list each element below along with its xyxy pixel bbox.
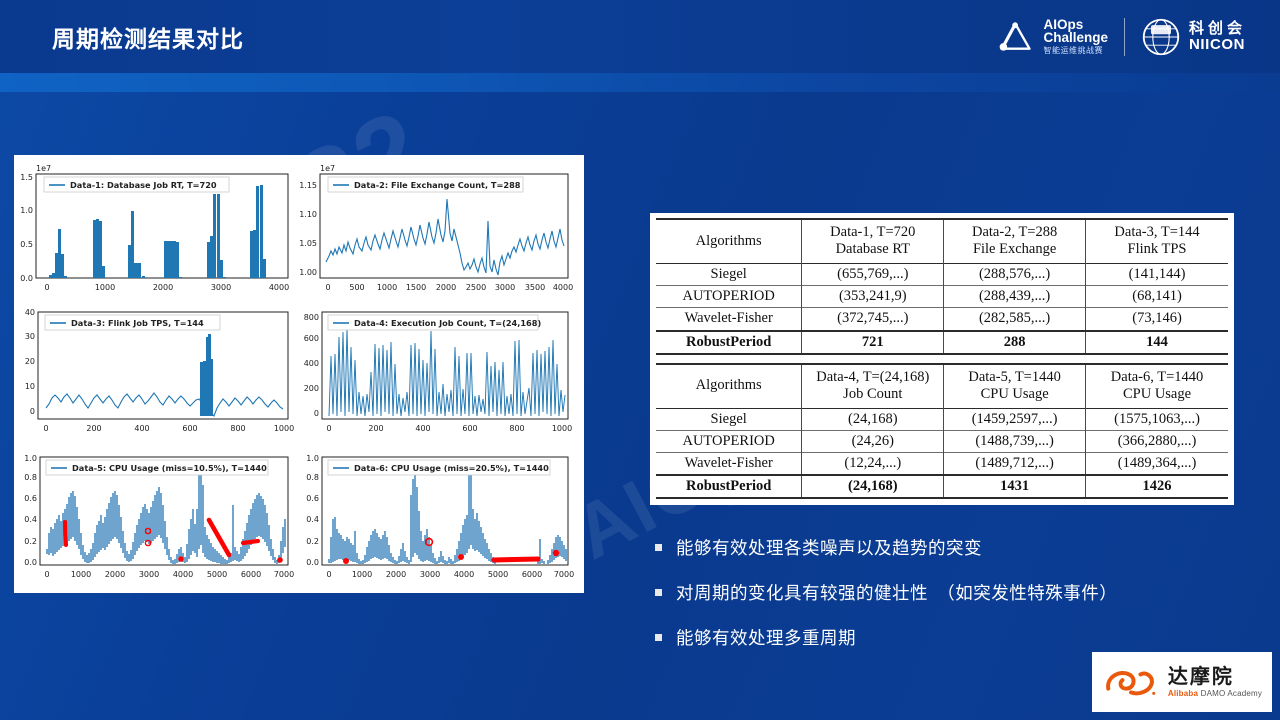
col-header-algorithms: Algorithms <box>656 364 802 409</box>
cell-value: (655,769,...) <box>802 264 944 286</box>
chart-3-legend-label: Data-3: Flink Job TPS, T=144 <box>71 318 204 328</box>
col-header-data-1-line1: Data-1, T=720 <box>806 224 939 241</box>
chart-1-legend: Data-1: Database Job RT, T=720 <box>44 177 229 192</box>
chart-data-1-svg: 1e7 0.00.5 1.01.5 010002000 30004000 <box>18 159 298 304</box>
cell-value: (141,144) <box>1086 264 1228 286</box>
cell-value: (1488,739,...) <box>944 430 1086 452</box>
svg-text:1.10: 1.10 <box>299 210 317 219</box>
chart-data-3-svg: 01020 3040 0200400 6008001000 Data-3: Fl… <box>18 304 298 449</box>
chart-data-4-svg: 0200400 600800 0200400 6008001000 Data-4… <box>298 304 578 449</box>
svg-text:0.0: 0.0 <box>24 558 37 567</box>
cell-algorithm: Siegel <box>656 408 802 430</box>
damo-logo-brand: Alibaba <box>1168 689 1198 698</box>
chart-6-legend: Data-6: CPU Usage (miss=20.5%), T=1440 <box>328 460 550 475</box>
svg-text:2500: 2500 <box>466 283 486 292</box>
bullet-text: 能够有效处理各类噪声以及趋势的突变 <box>676 535 982 560</box>
list-item: 能够有效处理各类噪声以及趋势的突变 <box>655 535 1235 560</box>
svg-text:600: 600 <box>304 334 319 343</box>
chart-5-legend-label: Data-5: CPU Usage (miss=10.5%), T=1440 <box>72 463 267 473</box>
svg-text:7000: 7000 <box>554 570 574 579</box>
chart-2-legend: Data-2: File Exchange Count, T=288 <box>328 177 523 192</box>
svg-text:20: 20 <box>25 357 35 366</box>
cell-value: (68,141) <box>1086 286 1228 308</box>
globe-icon <box>1141 17 1181 57</box>
table-bottom: Algorithms Data-4, T=(24,168) Job Count … <box>656 363 1228 500</box>
chart-6-legend-label: Data-6: CPU Usage (miss=20.5%), T=1440 <box>354 463 549 473</box>
svg-text:800: 800 <box>304 313 319 322</box>
bullet-text: 能够有效处理多重周期 <box>676 625 856 650</box>
chart-3-legend: Data-3: Flink Job TPS, T=144 <box>45 315 220 330</box>
chart-data-6-svg: 0.00.20.4 0.60.81.0 010002000 3000400050… <box>298 449 578 597</box>
cell-value: (282,585,...) <box>944 308 1086 331</box>
table-row: Wavelet-Fisher (372,745,...) (282,585,..… <box>656 308 1228 331</box>
svg-text:200: 200 <box>86 424 101 433</box>
svg-text:5000: 5000 <box>488 570 508 579</box>
chart-data-2: 1e7 1.001.05 1.101.15 05001000 150020002… <box>298 159 578 304</box>
svg-text:200: 200 <box>304 384 319 393</box>
cell-algorithm: RobustPeriod <box>656 331 802 354</box>
svg-text:0.4: 0.4 <box>306 515 319 524</box>
svg-text:1.0: 1.0 <box>24 454 37 463</box>
table-row: Algorithms Data-4, T=(24,168) Job Count … <box>656 364 1228 409</box>
table-row-best: RobustPeriod (24,168) 1431 1426 <box>656 475 1228 498</box>
svg-text:5000: 5000 <box>207 570 227 579</box>
cell-value: (1489,712,...) <box>944 453 1086 476</box>
col-header-data-5-line2: CPU Usage <box>948 386 1081 403</box>
col-header-data-4-line1: Data-4, T=(24,168) <box>806 369 939 386</box>
svg-text:1000: 1000 <box>274 424 294 433</box>
col-header-data-1-line2: Database RT <box>806 241 939 258</box>
svg-text:2000: 2000 <box>386 570 406 579</box>
svg-text:400: 400 <box>304 359 319 368</box>
cell-value: (288,439,...) <box>944 286 1086 308</box>
cell-value: (1575,1063,...) <box>1086 408 1228 430</box>
svg-text:600: 600 <box>182 424 197 433</box>
chart-data-6: 0.00.20.4 0.60.81.0 010002000 3000400050… <box>298 449 578 597</box>
col-header-data-3: Data-3, T=144 Flink TPS <box>1086 219 1228 264</box>
table-row: Siegel (655,769,...) (288,576,...) (141,… <box>656 264 1228 286</box>
aiops-triangle-icon <box>996 19 1036 55</box>
chart-data-2-svg: 1e7 1.001.05 1.101.15 05001000 150020002… <box>298 159 578 304</box>
col-header-data-4-line2: Job Count <box>806 386 939 403</box>
svg-text:2000: 2000 <box>105 570 125 579</box>
svg-text:0.0: 0.0 <box>20 274 33 283</box>
col-header-data-3-line1: Data-3, T=144 <box>1090 224 1224 241</box>
svg-text:0: 0 <box>44 570 49 579</box>
svg-text:500: 500 <box>349 283 364 292</box>
svg-text:3000: 3000 <box>211 283 231 292</box>
svg-text:1.0: 1.0 <box>20 206 33 215</box>
aiops-logo-line2: Challenge <box>1043 31 1108 45</box>
bullet-text: 对周期的变化具有较强的健壮性 （如突发性特殊事件） <box>676 580 1117 605</box>
svg-text:30: 30 <box>25 332 35 341</box>
chart-data-4: 0200400 600800 0200400 6008001000 Data-4… <box>298 304 578 449</box>
table-row: Siegel (24,168) (1459,2597,...) (1575,10… <box>656 408 1228 430</box>
col-header-data-2-line1: Data-2, T=288 <box>948 224 1081 241</box>
table-row: Algorithms Data-1, T=720 Database RT Dat… <box>656 219 1228 264</box>
svg-text:400: 400 <box>134 424 149 433</box>
cell-value: (24,168) <box>802 408 944 430</box>
svg-text:0: 0 <box>326 424 331 433</box>
col-header-data-4: Data-4, T=(24,168) Job Count <box>802 364 944 409</box>
col-header-data-5-line1: Data-5, T=1440 <box>948 369 1081 386</box>
svg-text:1000: 1000 <box>95 283 115 292</box>
svg-text:1500: 1500 <box>406 283 426 292</box>
cell-algorithm: RobustPeriod <box>656 475 802 498</box>
chart-data-5: 0.00.20.4 0.60.81.0 010002000 3000400050… <box>18 449 298 597</box>
col-header-data-6: Data-6, T=1440 CPU Usage <box>1086 364 1228 409</box>
svg-text:200: 200 <box>368 424 383 433</box>
chart-5-legend: Data-5: CPU Usage (miss=10.5%), T=1440 <box>46 460 268 475</box>
cell-algorithm: AUTOPERIOD <box>656 430 802 452</box>
cell-value: (353,241,9) <box>802 286 944 308</box>
chart-2-legend-label: Data-2: File Exchange Count, T=288 <box>354 180 521 190</box>
col-header-data-2: Data-2, T=288 File Exchange <box>944 219 1086 264</box>
damo-logo-english: Alibaba DAMO Academy <box>1168 690 1262 698</box>
chart-data-3: 01020 3040 0200400 6008001000 Data-3: Fl… <box>18 304 298 449</box>
table-row: AUTOPERIOD (353,241,9) (288,439,...) (68… <box>656 286 1228 308</box>
svg-text:0.4: 0.4 <box>24 515 37 524</box>
cell-value: (288,576,...) <box>944 264 1086 286</box>
table-row-best: RobustPeriod 721 288 144 <box>656 331 1228 354</box>
svg-text:3500: 3500 <box>525 283 545 292</box>
svg-text:1000: 1000 <box>71 570 91 579</box>
cell-value: 1426 <box>1086 475 1228 498</box>
header-logos: AIOps Challenge 智能运维挑战赛 科创会 NIICON <box>996 17 1246 57</box>
svg-text:3000: 3000 <box>139 570 159 579</box>
niicon-logo-english: NIICON <box>1189 37 1246 53</box>
niicon-logo: 科创会 NIICON <box>1141 17 1246 57</box>
svg-text:7000: 7000 <box>274 570 294 579</box>
table-top: Algorithms Data-1, T=720 Database RT Dat… <box>656 218 1228 355</box>
cell-value: (366,2880,...) <box>1086 430 1228 452</box>
cell-value: 144 <box>1086 331 1228 354</box>
svg-text:0: 0 <box>43 424 48 433</box>
cell-algorithm: AUTOPERIOD <box>656 286 802 308</box>
chart-data-5-svg: 0.00.20.4 0.60.81.0 010002000 3000400050… <box>18 449 298 597</box>
list-item: 对周期的变化具有较强的健壮性 （如突发性特殊事件） <box>655 580 1235 605</box>
table-divider <box>656 355 1228 363</box>
chart-1-legend-label: Data-1: Database Job RT, T=720 <box>70 180 217 190</box>
col-header-algorithms: Algorithms <box>656 219 802 264</box>
cell-value: 288 <box>944 331 1086 354</box>
logo-divider <box>1124 18 1125 56</box>
svg-text:4000: 4000 <box>173 570 193 579</box>
list-item: 能够有效处理多重周期 <box>655 625 1235 650</box>
col-header-data-5: Data-5, T=1440 CPU Usage <box>944 364 1086 409</box>
svg-text:1000: 1000 <box>377 283 397 292</box>
svg-text:800: 800 <box>230 424 245 433</box>
cell-value: (12,24,...) <box>802 453 944 476</box>
chart-2-exponent-label: 1e7 <box>320 164 335 173</box>
svg-text:4000: 4000 <box>553 283 573 292</box>
svg-text:1000: 1000 <box>552 424 572 433</box>
svg-text:1.00: 1.00 <box>299 268 317 277</box>
svg-text:0.5: 0.5 <box>20 240 33 249</box>
bullet-square-icon <box>655 634 662 641</box>
col-header-data-3-line2: Flink TPS <box>1090 241 1224 258</box>
cell-algorithm: Wavelet-Fisher <box>656 308 802 331</box>
damo-logo-chinese: 达摩院 <box>1168 667 1262 687</box>
svg-text:600: 600 <box>462 424 477 433</box>
chart-4-legend: Data-4: Execution Job Count, T=(24,168) <box>328 315 541 330</box>
col-header-data-1: Data-1, T=720 Database RT <box>802 219 944 264</box>
svg-text:0: 0 <box>44 283 49 292</box>
svg-text:2000: 2000 <box>153 283 173 292</box>
svg-text:0: 0 <box>314 409 319 418</box>
cell-value: (372,745,...) <box>802 308 944 331</box>
svg-text:1000: 1000 <box>352 570 372 579</box>
cell-value: (1459,2597,...) <box>944 408 1086 430</box>
svg-text:800: 800 <box>509 424 524 433</box>
svg-text:0.2: 0.2 <box>24 537 37 546</box>
svg-text:1.05: 1.05 <box>299 239 317 248</box>
cell-value: 721 <box>802 331 944 354</box>
svg-text:0.6: 0.6 <box>306 494 319 503</box>
col-header-data-6-line1: Data-6, T=1440 <box>1090 369 1224 386</box>
svg-text:3000: 3000 <box>495 283 515 292</box>
svg-text:0.6: 0.6 <box>24 494 37 503</box>
slide-header: 周期检测结果对比 AIOps Challenge 智能运维挑战赛 <box>0 0 1280 73</box>
svg-text:2000: 2000 <box>436 283 456 292</box>
svg-text:4000: 4000 <box>269 283 289 292</box>
svg-text:1.15: 1.15 <box>299 181 317 190</box>
page-title: 周期检测结果对比 <box>52 20 244 54</box>
svg-text:0: 0 <box>30 407 35 416</box>
cell-value: (24,168) <box>802 475 944 498</box>
damo-logo-sub: DAMO Academy <box>1201 689 1263 698</box>
svg-text:1.5: 1.5 <box>20 173 33 182</box>
svg-text:3000: 3000 <box>420 570 440 579</box>
chart-4-legend-label: Data-4: Execution Job Count, T=(24,168) <box>354 318 541 328</box>
svg-text:6000: 6000 <box>241 570 261 579</box>
table-row: Wavelet-Fisher (12,24,...) (1489,712,...… <box>656 453 1228 476</box>
cell-value: 1431 <box>944 475 1086 498</box>
chart-data-1: 1e7 0.00.5 1.01.5 010002000 30004000 <box>18 159 298 304</box>
col-header-data-2-line2: File Exchange <box>948 241 1081 258</box>
bullet-square-icon <box>655 589 662 596</box>
svg-text:0.8: 0.8 <box>306 473 319 482</box>
svg-text:0.2: 0.2 <box>306 537 319 546</box>
cell-value: (24,26) <box>802 430 944 452</box>
table-row: AUTOPERIOD (24,26) (1488,739,...) (366,2… <box>656 430 1228 452</box>
svg-text:0.0: 0.0 <box>306 558 319 567</box>
bullet-square-icon <box>655 544 662 551</box>
svg-text:4000: 4000 <box>454 570 474 579</box>
svg-text:0: 0 <box>326 570 331 579</box>
aiops-challenge-logo: AIOps Challenge 智能运维挑战赛 <box>996 18 1108 56</box>
cell-value: (1489,364,...) <box>1086 453 1228 476</box>
svg-text:1.0: 1.0 <box>306 454 319 463</box>
niicon-logo-chinese: 科创会 <box>1189 21 1246 37</box>
svg-text:0: 0 <box>325 283 330 292</box>
svg-text:6000: 6000 <box>522 570 542 579</box>
svg-text:0.8: 0.8 <box>24 473 37 482</box>
aiops-logo-line1: AIOps <box>1043 18 1108 32</box>
svg-text:10: 10 <box>25 382 35 391</box>
chart-1-exponent-label: 1e7 <box>36 164 51 173</box>
bullet-list: 能够有效处理各类噪声以及趋势的突变 对周期的变化具有较强的健壮性 （如突发性特殊… <box>655 535 1235 670</box>
aiops-logo-line3: 智能运维挑战赛 <box>1043 47 1108 55</box>
cell-algorithm: Wavelet-Fisher <box>656 453 802 476</box>
results-tables: Algorithms Data-1, T=720 Database RT Dat… <box>650 213 1234 505</box>
header-accent-strip <box>0 73 1280 92</box>
charts-panel: 1e7 0.00.5 1.01.5 010002000 30004000 <box>14 155 584 593</box>
svg-text:40: 40 <box>25 308 35 317</box>
col-header-data-6-line2: CPU Usage <box>1090 386 1224 403</box>
svg-text:400: 400 <box>415 424 430 433</box>
cell-algorithm: Siegel <box>656 264 802 286</box>
cell-value: (73,146) <box>1086 308 1228 331</box>
damo-swirl-icon <box>1102 664 1160 700</box>
damo-academy-logo: 达摩院 Alibaba DAMO Academy <box>1092 652 1272 712</box>
